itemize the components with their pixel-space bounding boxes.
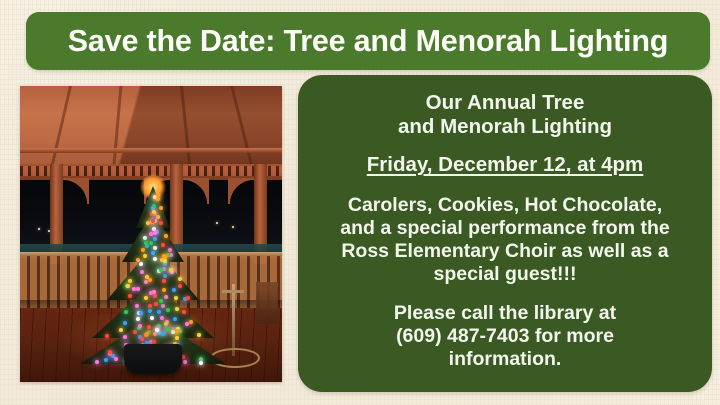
tree-light-bulb (123, 335, 127, 339)
christmas-tree-photo (20, 86, 282, 382)
tree-light-bulb (162, 254, 166, 258)
tree-light-bulb (104, 358, 108, 362)
tree-light-bulb (161, 243, 165, 247)
tree-light-bulb (171, 330, 175, 334)
tree-light-bulb (128, 279, 132, 283)
tree-light-bulb (175, 307, 179, 311)
tree-light-bulb (162, 279, 166, 283)
tree-light-bulb (183, 360, 187, 364)
tree-light-bulb (185, 322, 189, 326)
tree-light-bulb (178, 284, 182, 288)
event-headline-line-2: and Menorah Lighting (398, 115, 612, 139)
tree-light-bulb (155, 328, 159, 332)
tree-light-bulb (163, 274, 167, 278)
distant-light (232, 226, 234, 228)
event-date-time: Friday, December 12, at 4pm (367, 153, 644, 177)
tree-light-bulb (175, 329, 179, 333)
tree-light-bulb (139, 311, 143, 315)
title-banner: Save the Date: Tree and Menorah Lighting (26, 12, 710, 70)
tree-light-bulb (105, 334, 109, 338)
christmas-tree (78, 178, 228, 363)
tree-light-bulb (148, 278, 152, 282)
tree-light-bulb (148, 309, 152, 313)
tree-light-bulb (189, 320, 193, 324)
event-details-panel: Our Annual Tree and Menorah Lighting Fri… (298, 75, 712, 392)
ceiling-ridge (20, 148, 282, 153)
metal-pole (232, 284, 235, 356)
tree-light-bulb (146, 221, 150, 225)
tree-light-bulb (153, 332, 157, 336)
tree-light-bulb (136, 317, 140, 321)
tree-light-bulb (140, 270, 144, 274)
event-activities-line-3: Ross Elementary Choir as well as a (341, 240, 668, 263)
tree-light-bulb (166, 308, 170, 312)
contact-line-1: Please call the library at (394, 302, 616, 325)
page-title: Save the Date: Tree and Menorah Lighting (68, 26, 668, 57)
contact-phone-number: (609) 487-7403 for more (396, 325, 614, 348)
tree-light-bulb (144, 296, 148, 300)
tree-light-bulb (153, 246, 157, 250)
event-headline-line-1: Our Annual Tree (426, 91, 585, 115)
tree-light-bulb (126, 284, 130, 288)
tree-light-bulb (147, 325, 151, 329)
contact-line-3: information. (449, 348, 562, 371)
tree-light-bulb (143, 236, 147, 240)
arch-bracket (228, 178, 254, 204)
tree-light-bulb (163, 259, 167, 263)
tree-light-bulb (169, 253, 173, 257)
tree-light-bulb (159, 221, 163, 225)
tree-stand (124, 344, 182, 374)
event-activities-line-2: and a special performance from the (340, 217, 669, 240)
tree-light-bulb (123, 321, 127, 325)
tree-light-bulb (152, 290, 156, 294)
tree-light-bulb (172, 288, 176, 292)
tree-light-bulb (182, 310, 186, 314)
event-activities-line-1: Carolers, Cookies, Hot Chocolate, (348, 194, 662, 217)
tree-light-bulb (178, 277, 182, 281)
tree-light-bulb (159, 268, 163, 272)
tree-light-bulb (153, 237, 157, 241)
tree-light-bulb (169, 268, 173, 272)
tree-light-bulb (144, 241, 148, 245)
flyer-poster: Save the Date: Tree and Menorah Lighting (0, 0, 720, 405)
tree-light-bulb (159, 206, 163, 210)
tree-light-bulb (166, 327, 170, 331)
tree-light-bulb (156, 193, 160, 197)
tree-light-bulb (156, 197, 160, 201)
wooden-chair (256, 282, 278, 324)
event-activities-line-4: special guest!!! (433, 263, 576, 286)
tree-light-bulb (199, 361, 203, 365)
distant-light (38, 228, 40, 230)
tree-light-bulb (175, 336, 179, 340)
tree-light-bulb (160, 316, 164, 320)
tree-light-bulb (95, 360, 99, 364)
tree-light-bulb (108, 350, 112, 354)
tree-light-bulb (114, 357, 118, 361)
tree-light-bulb (157, 310, 161, 314)
